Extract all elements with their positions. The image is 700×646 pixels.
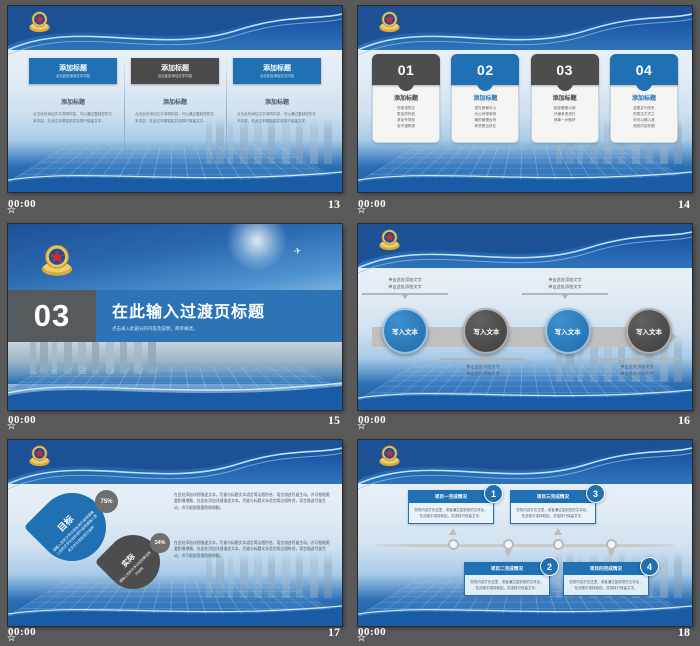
- column-3-heading: 添加标题: [233, 97, 321, 106]
- timeline-card-4-title: 项目四完成情况: [564, 563, 648, 575]
- numbered-cards-row: 01 添加标题 完成领导交 更加的作品 参加专项检 查不错再现 02 添加标题 …: [372, 54, 678, 143]
- numbered-card-02[interactable]: 02 添加标题 现在即使可以 为公司带来明 确的管理台灣 考虑是否存在: [451, 54, 519, 143]
- column-1-body: 点击此处添加文字说明内容，可以通过复制您的文本内容，在此文本框粘贴并选择只保留文…: [29, 111, 117, 124]
- goal-paragraph-2: 在此处添加详细描述文本，尽量与标题文本语言简洁相符合，语言描述尽量生动，亦可根据…: [174, 540, 332, 559]
- process-label-2[interactable]: 单击此处添加文字 单击此处添加文字: [440, 356, 526, 377]
- slide-cell-15[interactable]: ✈ 03 在此输入过渡页标题 点击录入此部分的内容及说明，简单阐述。: [0, 218, 350, 434]
- footer-wave-decoration: [8, 378, 342, 410]
- timeline-card-1[interactable]: 项目一完成情况 您的内容打在这里，或者通过复制您的文本后，在此框中选择粘贴，并选…: [408, 490, 494, 524]
- process-circle-4[interactable]: 写入文本: [626, 308, 672, 354]
- timeline-tick-3: [554, 528, 562, 535]
- column-2-card-title: 添加标题: [161, 64, 189, 73]
- column-3-title-card[interactable]: 添加标题 点击此处添加文字内容: [233, 58, 321, 84]
- section-number: 03: [34, 298, 70, 334]
- slide-16[interactable]: 写入文本 写入文本 写入文本 写入文本 单击此处添加文字 单击此处添加文字 单击…: [358, 224, 692, 410]
- process-circle-1[interactable]: 写入文本: [382, 308, 428, 354]
- column-1-card-subtitle: 点击此处添加文字内容: [56, 73, 90, 79]
- timeline-badge-2: 2: [540, 557, 559, 576]
- slide-15[interactable]: ✈ 03 在此输入过渡页标题 点击录入此部分的内容及说明，简单阐述。: [8, 224, 342, 410]
- slide-thumbnail-grid: 添加标题 点击此处添加文字内容 添加标题 点击此处添加文字说明内容，可以通过复制…: [0, 0, 700, 646]
- airplane-icon: ✈: [294, 246, 303, 258]
- process-label-4[interactable]: 单击此处添加文字 单击此处添加文字: [594, 356, 680, 377]
- numbered-card-03-text: 制定要做大纲 仔细考虑进行 修筹一步做好: [536, 105, 594, 123]
- header-wave-decoration: [8, 440, 342, 498]
- process-circle-2[interactable]: 写入文本: [463, 308, 509, 354]
- timeline-node-2[interactable]: [503, 539, 514, 550]
- process-label-3[interactable]: 单击此处添加文字 单击此处添加文字: [522, 276, 608, 295]
- star-icon: ☆: [7, 205, 16, 216]
- header-wave-decoration: [358, 224, 692, 282]
- page-number: 15: [328, 413, 340, 428]
- timeline-card-1-body: 您的内容打在这里，或者通过复制您的文本后，在此框中选择粘贴，并选择只保留文字。: [409, 503, 493, 523]
- slide-14[interactable]: 01 添加标题 完成领导交 更加的作品 参加专项检 查不错再现 02 添加标题 …: [358, 6, 692, 192]
- police-emblem-icon: [376, 443, 403, 469]
- section-subtitle: 点击录入此部分的内容及说明，简单阐述。: [112, 326, 342, 332]
- numbered-card-03-number: 03: [556, 62, 573, 78]
- timeline-badge-4: 4: [640, 557, 659, 576]
- numbered-card-03[interactable]: 03 添加标题 制定要做大纲 仔细考虑进行 修筹一步做好: [531, 54, 599, 143]
- slide-cell-18[interactable]: 项目一完成情况 您的内容打在这里，或者通过复制您的文本后，在此框中选择粘贴，并选…: [350, 434, 700, 646]
- column-1-card-title: 添加标题: [59, 64, 87, 73]
- timeline-card-2-body: 您的内容打在这里，或者通过复制您的文本后，在此框中选择粘贴，并选择只保留文字。: [465, 575, 549, 595]
- goal-percent-badge: 75%: [95, 490, 118, 513]
- numbered-card-01-number: 01: [398, 62, 415, 78]
- timeline-badge-1: 1: [484, 484, 503, 503]
- section-title: 在此输入过渡页标题: [112, 298, 342, 322]
- star-icon: ☆: [357, 205, 366, 216]
- process-label-2-line1: 单击此处添加文字: [440, 363, 526, 370]
- column-1-heading: 添加标题: [29, 97, 117, 106]
- process-label-4-connector: [594, 358, 680, 360]
- page-number: 18: [678, 625, 690, 640]
- numbered-card-01-title: 添加标题: [377, 93, 435, 102]
- timeline-axis: [376, 544, 674, 547]
- star-icon: ☆: [7, 633, 16, 644]
- slide-18[interactable]: 项目一完成情况 您的内容打在这里，或者通过复制您的文本后，在此框中选择粘贴，并选…: [358, 440, 692, 626]
- star-icon: ☆: [357, 633, 366, 644]
- timeline-node-4[interactable]: [606, 539, 617, 550]
- process-label-1[interactable]: 单击此处添加文字 单击此处添加文字: [362, 276, 448, 295]
- column-3[interactable]: 添加标题 点击此处添加文字内容 添加标题 点击此处添加文字说明内容，可以通过复制…: [226, 58, 328, 124]
- police-emblem-icon: [376, 9, 403, 35]
- timeline-card-4-body: 您的内容打在这里，或者通过复制您的文本后，在此框中选择粘贴，并选择只保留文字。: [564, 575, 648, 595]
- police-emblem-icon: [376, 227, 403, 253]
- slide-cell-17[interactable]: 目标 请输入您的文字对目标进行说明请输入您的文字对目标进行说明请输入您的文字对目…: [0, 434, 350, 646]
- process-circle-3[interactable]: 写入文本: [545, 308, 591, 354]
- slide-13-footer: ☆ 00:00 13: [0, 192, 350, 218]
- process-label-1-line1: 单击此处添加文字: [362, 276, 448, 283]
- slide-14-footer: ☆ 00:00 14: [350, 192, 700, 218]
- column-2[interactable]: 添加标题 点击此处添加文字内容 添加标题 点击此处添加文字说明内容，可以通过复制…: [124, 58, 226, 124]
- column-1[interactable]: 添加标题 点击此处添加文字内容 添加标题 点击此处添加文字说明内容，可以通过复制…: [22, 58, 124, 124]
- numbered-card-02-number: 02: [477, 62, 494, 78]
- timeline-node-3[interactable]: [553, 539, 564, 550]
- numbered-card-03-tab[interactable]: 03: [531, 54, 599, 85]
- slide-cell-13[interactable]: 添加标题 点击此处添加文字内容 添加标题 点击此处添加文字说明内容，可以通过复制…: [0, 0, 350, 218]
- column-1-title-card[interactable]: 添加标题 点击此处添加文字内容: [29, 58, 117, 84]
- timeline-card-3-body: 您的内容打在这里，或者通过复制您的文本后，在此框中选择粘贴，并选择只保留文字。: [511, 503, 595, 523]
- process-label-3-line1: 单击此处添加文字: [522, 276, 608, 283]
- slide-15-footer: ☆ 00:00 15: [0, 408, 350, 434]
- column-2-title-card[interactable]: 添加标题 点击此处添加文字内容: [131, 58, 219, 84]
- header-wave-decoration: [8, 6, 342, 64]
- column-2-heading: 添加标题: [131, 97, 219, 106]
- three-column-container: 添加标题 点击此处添加文字内容 添加标题 点击此处添加文字说明内容，可以通过复制…: [22, 58, 328, 124]
- timer-label: ☆ 00:00: [358, 414, 386, 426]
- footer-wave-decoration: [358, 386, 692, 410]
- page-number: 16: [678, 413, 690, 428]
- timer-label: ☆ 00:00: [8, 626, 36, 638]
- section-text-block: 在此输入过渡页标题 点击录入此部分的内容及说明，简单阐述。: [96, 290, 342, 342]
- numbered-card-04-number: 04: [636, 62, 653, 78]
- column-2-body: 点击此处添加文字说明内容，可以通过复制您的文本内容，在此文本框粘贴并选择只保留文…: [131, 111, 219, 124]
- slide-17-footer: ☆ 00:00 17: [0, 620, 350, 646]
- timeline-card-2-title: 项目二完成情况: [465, 563, 549, 575]
- process-label-2-connector: [440, 358, 526, 360]
- timeline-node-1[interactable]: [448, 539, 459, 550]
- process-label-1-connector: [362, 293, 448, 295]
- footer-wave-decoration: [8, 168, 342, 192]
- timeline-badge-3: 3: [586, 484, 605, 503]
- star-icon: ☆: [357, 421, 366, 432]
- page-number: 17: [328, 625, 340, 640]
- numbered-card-04[interactable]: 04 添加标题 这是并列关系 的表达方式之 你可以输入其 他的内容作图: [610, 54, 678, 143]
- timeline-card-4[interactable]: 项目四完成情况 您的内容打在这里，或者通过复制您的文本后，在此框中选择粘贴，并选…: [563, 562, 649, 596]
- numbered-card-03-title: 添加标题: [536, 93, 594, 102]
- numbered-card-01[interactable]: 01 添加标题 完成领导交 更加的作品 参加专项检 查不错再现: [372, 54, 440, 143]
- police-emblem-icon: [38, 242, 76, 279]
- page-number: 13: [328, 197, 340, 212]
- timeline-card-2[interactable]: 项目二完成情况 您的内容打在这里，或者通过复制您的文本后，在此框中选择粘贴，并选…: [464, 562, 550, 596]
- timeline-tick-4: [607, 550, 615, 557]
- numbered-card-04-text: 这是并列关系 的表达方式之 你可以输入其 他的内容作图: [615, 105, 673, 129]
- numbered-card-02-title: 添加标题: [456, 93, 514, 102]
- goal-paragraph-1: 在此处添加详细描述文本，尽量与标题文本语言简洁相符合，语言描述尽量生动。亦可根据…: [174, 492, 332, 511]
- column-3-card-subtitle: 点击此处添加文字内容: [260, 73, 294, 79]
- numbered-card-04-title: 添加标题: [615, 93, 673, 102]
- timer-label: ☆ 00:00: [8, 198, 36, 210]
- process-label-3-line2: 单击此处添加文字: [522, 283, 608, 290]
- timeline-tick-1: [449, 528, 457, 535]
- timeline-card-3-title: 项目三完成情况: [511, 491, 595, 503]
- section-number-block: 03: [8, 290, 96, 342]
- page-number: 14: [678, 197, 690, 212]
- process-label-2-line2: 单击此处添加文字: [440, 370, 526, 377]
- numbered-card-04-tab[interactable]: 04: [610, 54, 678, 85]
- column-3-card-title: 添加标题: [263, 64, 291, 73]
- process-label-4-line2: 单击此处添加文字: [594, 370, 680, 377]
- section-divider-band: 03 在此输入过渡页标题 点击录入此部分的内容及说明，简单阐述。: [8, 290, 342, 342]
- timeline-card-3[interactable]: 项目三完成情况 您的内容打在这里，或者通过复制您的文本后，在此框中选择粘贴，并选…: [510, 490, 596, 524]
- slide-16-footer: ☆ 00:00 16: [350, 408, 700, 434]
- footer-wave-decoration: [358, 168, 692, 192]
- police-emblem-icon: [26, 9, 53, 35]
- slide-cell-16[interactable]: 写入文本 写入文本 写入文本 写入文本 单击此处添加文字 单击此处添加文字 单击…: [350, 218, 700, 434]
- numbered-card-01-tab[interactable]: 01: [372, 54, 440, 85]
- numbered-card-01-text: 完成领导交 更加的作品 参加专项检 查不错再现: [377, 105, 435, 129]
- process-label-4-line1: 单击此处添加文字: [594, 363, 680, 370]
- numbered-card-02-text: 现在即使可以 为公司带来明 确的管理台灣 考虑是否存在: [456, 105, 514, 129]
- timer-label: ☆ 00:00: [8, 414, 36, 426]
- slide-18-footer: ☆ 00:00 18: [350, 620, 700, 646]
- slide-17[interactable]: 目标 请输入您的文字对目标进行说明请输入您的文字对目标进行说明请输入您的文字对目…: [8, 440, 342, 626]
- column-3-body: 点击此处添加文字说明内容，可以通过复制您的文本内容，在此文本框粘贴并选择只保留文…: [233, 111, 321, 124]
- process-label-3-connector: [522, 293, 608, 295]
- actual-percent-badge: 34%: [150, 533, 170, 553]
- process-circles: 写入文本 写入文本 写入文本 写入文本: [382, 308, 672, 354]
- police-emblem-icon: [26, 443, 53, 469]
- star-icon: ☆: [7, 421, 16, 432]
- timeline-tick-2: [504, 550, 512, 557]
- timeline-card-1-title: 项目一完成情况: [409, 491, 493, 503]
- slide-13[interactable]: 添加标题 点击此处添加文字内容 添加标题 点击此处添加文字说明内容，可以通过复制…: [8, 6, 342, 192]
- column-2-card-subtitle: 点击此处添加文字内容: [158, 73, 192, 79]
- timer-label: ☆ 00:00: [358, 198, 386, 210]
- timer-label: ☆ 00:00: [358, 626, 386, 638]
- numbered-card-02-tab[interactable]: 02: [451, 54, 519, 85]
- process-label-1-line2: 单击此处添加文字: [362, 283, 448, 290]
- slide-cell-14[interactable]: 01 添加标题 完成领导交 更加的作品 参加专项检 查不错再现 02 添加标题 …: [350, 0, 700, 218]
